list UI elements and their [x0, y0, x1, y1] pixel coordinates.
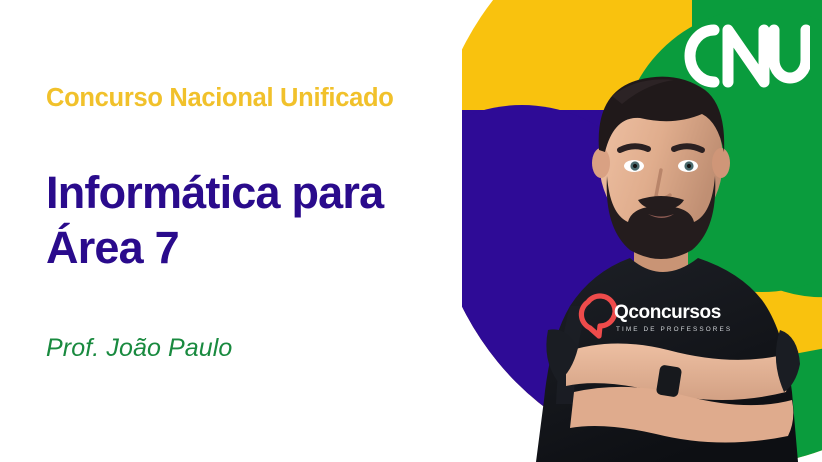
ear-right — [712, 148, 730, 178]
shirt-brand-text: Qconcursos — [614, 302, 721, 323]
pupil-right — [687, 164, 691, 168]
page-title-line-2: Área 7 — [46, 221, 383, 276]
wristwatch — [656, 364, 682, 397]
eyebrow-heading: Concurso Nacional Unificado — [46, 84, 394, 112]
shirt-tagline-text: TIME DE PROFESSORES — [616, 326, 732, 333]
brand-artwork: Qconcursos TIME DE PROFESSORES — [462, 0, 822, 462]
page-title: Informática para Área 7 — [46, 166, 383, 276]
page-title-line-1: Informática para — [46, 166, 383, 221]
presenter-name: Prof. João Paulo — [46, 334, 232, 363]
ear-left — [592, 148, 610, 178]
pupil-left — [633, 164, 637, 168]
course-title-slide: Qconcursos TIME DE PROFESSORES Concurso … — [0, 0, 822, 462]
instructor-photo: Qconcursos TIME DE PROFESSORES — [462, 0, 822, 462]
text-column: Concurso Nacional Unificado Informática … — [46, 0, 516, 462]
